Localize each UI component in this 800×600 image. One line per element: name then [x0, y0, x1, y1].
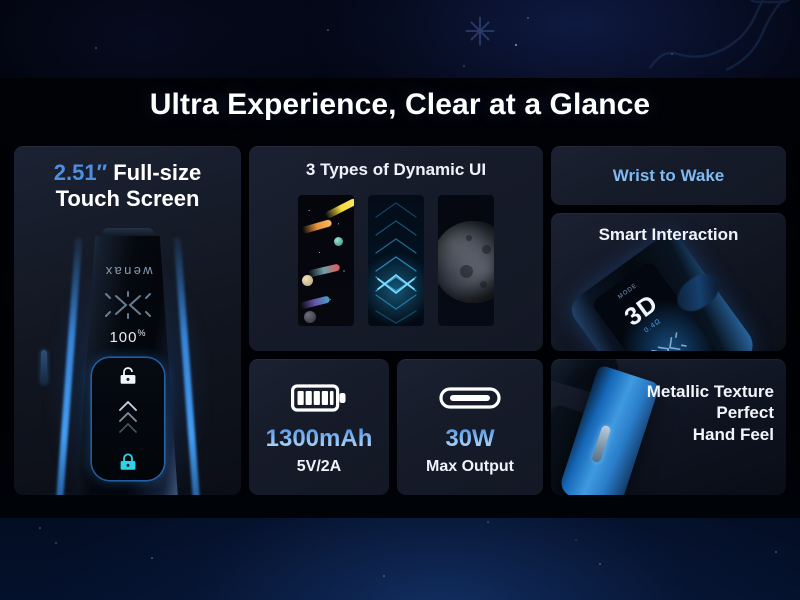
screen-size-value: 2.51″	[54, 160, 107, 185]
page-title: Ultra Experience, Clear at a Glance	[0, 88, 800, 122]
planet-sand	[302, 275, 313, 286]
device-front-render: wenax 100%	[29, 232, 227, 495]
slide-to-unlock-control[interactable]	[92, 358, 164, 480]
screen-size-suffix: Full-size	[107, 160, 201, 185]
panel-output-spec[interactable]: 30W Max Output	[397, 359, 543, 495]
metallic-line-2: Perfect	[647, 402, 774, 423]
metallic-line-3: Hand Feel	[647, 424, 774, 445]
dynamic-ui-thumbnails	[249, 195, 543, 326]
x-glyph-icon	[463, 14, 497, 48]
device-tilted-render: MODE 3D 0.4Ω 100%	[566, 229, 761, 351]
panel-metallic-texture[interactable]: Metallic Texture Perfect Hand Feel	[551, 359, 786, 495]
metallic-heading: Metallic Texture Perfect Hand Feel	[647, 381, 774, 445]
panel-wrist-to-wake[interactable]: Wrist to Wake	[551, 146, 786, 205]
planet-teal	[334, 237, 343, 246]
percent-symbol: %	[138, 328, 146, 338]
battery-full-icon	[291, 383, 347, 413]
battery-charging-spec: 5V/2A	[297, 458, 341, 476]
device-battery-percent: 100%	[29, 328, 227, 346]
chevron-up-icon	[117, 399, 139, 435]
panel-touch-screen[interactable]: 2.51″ Full-size Touch Screen wenax 100%	[14, 146, 241, 495]
crater	[482, 245, 491, 254]
panel-smart-interaction[interactable]: Smart Interaction MODE 3D 0.4Ω 100%	[551, 213, 786, 351]
device-brand-label: wenax	[29, 264, 227, 279]
x-logo-icon	[102, 290, 154, 320]
moon-graphic	[438, 221, 494, 303]
dynamic-ui-title: 3 Types of Dynamic UI	[249, 146, 543, 180]
meteor-yellow	[324, 198, 354, 220]
device-side-button	[41, 350, 47, 384]
lock-icon	[118, 453, 138, 471]
battery-capacity-value: 1300mAh	[266, 426, 373, 452]
touch-screen-line-2: Touch Screen	[14, 186, 241, 212]
output-power-label: Max Output	[426, 458, 514, 476]
meteor-orange	[302, 219, 333, 234]
unlock-icon	[118, 367, 138, 385]
crater	[480, 281, 487, 288]
panel-dynamic-ui[interactable]: 3 Types of Dynamic UI	[249, 146, 543, 351]
touch-screen-heading: 2.51″ Full-size Touch Screen	[14, 146, 241, 212]
planet-grey	[304, 311, 316, 323]
smart-interaction-title: Smart Interaction	[551, 213, 786, 245]
crater	[466, 235, 472, 241]
theme-thumbnail-moon[interactable]	[438, 195, 494, 326]
arrow-pattern-icon	[368, 195, 424, 326]
panel-battery-spec[interactable]: 1300mAh 5V/2A	[249, 359, 389, 495]
battery-icon-wrap	[291, 378, 347, 418]
usb-c-icon	[439, 384, 501, 412]
x-logo-icon	[649, 329, 689, 351]
device-window-slot	[591, 424, 611, 463]
meteor-purple	[300, 295, 331, 309]
wrist-to-wake-title: Wrist to Wake	[551, 146, 786, 205]
metallic-line-1: Metallic Texture	[647, 381, 774, 402]
output-power-value: 30W	[445, 426, 494, 452]
usb-icon-wrap	[439, 378, 501, 418]
meteor-red	[308, 263, 341, 277]
theme-thumbnail-space-meteors[interactable]	[298, 195, 354, 326]
crater	[460, 265, 473, 278]
theme-thumbnail-tech-arrows[interactable]	[368, 195, 424, 326]
touch-screen-line-1: 2.51″ Full-size	[14, 160, 241, 186]
